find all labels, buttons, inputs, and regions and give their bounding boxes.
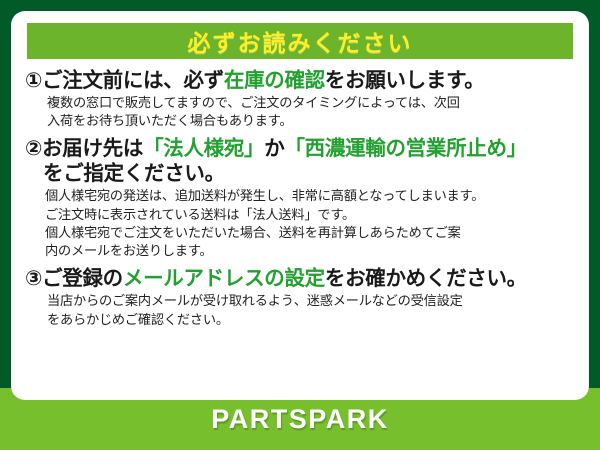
title-banner: 必ずお読みください (27, 23, 573, 59)
item-2-body: 個人様宅宛の発送は、追加送料が発生し、非常に高額となってしまいます。 ご注文時に… (25, 187, 575, 260)
item-2-heading-part-1: お届け先は (42, 137, 143, 160)
item-2-body-line-2: ご注文時に表示されている送料は「法人送料」です。 (45, 206, 575, 224)
item-2-body-line-1: 個人様宅宛の発送は、追加送料が発生し、非常に高額となってしまいます。 (45, 187, 575, 205)
item-3-heading: ③ご登録のメールアドレスの設定をお確かめください。 (25, 266, 575, 291)
item-3-body-line-1: 当店からのご案内メールが受け取れるよう、迷惑メールなどの受信設定 (47, 292, 575, 310)
item-2-heading-part-3: か (264, 137, 284, 160)
item-3-heading-part-3: をお確かめください。 (325, 267, 527, 290)
item-3-body: 当店からのご案内メールが受け取れるよう、迷惑メールなどの受信設定 をあらかじめご… (25, 292, 575, 328)
item-2-heading-line2: をご指定ください。 (25, 161, 575, 186)
item-1-body-line-1: 複数の窓口で販売してますので、ご注文のタイミングによっては、次回 (47, 94, 575, 112)
notice-item-3: ③ご登録のメールアドレスの設定をお確かめください。 当店からのご案内メールが受け… (25, 266, 575, 328)
notice-item-2: ②お届け先は「法人様宛」か「西濃運輸の営業所止め」 をご指定ください。 個人様宅… (25, 136, 575, 260)
item-1-body: 複数の窓口で販売してますので、ご注文のタイミングによっては、次回 入荷をお待ち頂… (25, 94, 575, 130)
item-3-marker: ③ (25, 267, 42, 290)
item-1-heading-part-1: ご注文前には、必ず (42, 69, 224, 92)
item-3-heading-part-1: ご登録の (42, 267, 123, 290)
item-3-heading-highlight: メールアドレスの設定 (123, 267, 325, 290)
notice-frame: PARTSPARK 必ずお読みください ①ご注文前には、必ず在庫の確認をお願いし… (0, 0, 600, 450)
item-2-heading: ②お届け先は「法人様宛」か「西濃運輸の営業所止め」 (25, 136, 575, 161)
item-2-heading-highlight-2: 「西濃運輸の営業所止め」 (284, 137, 526, 160)
notice-title: 必ずお読みください (188, 24, 413, 58)
item-2-marker: ② (25, 137, 42, 160)
notice-card: 必ずお読みください ①ご注文前には、必ず在庫の確認をお願いします。 複数の窓口で… (11, 11, 589, 400)
item-2-heading-highlight-1: 「法人様宛」 (143, 137, 264, 160)
item-1-heading-highlight: 在庫の確認 (224, 69, 325, 92)
item-1-heading: ①ご注文前には、必ず在庫の確認をお願いします。 (25, 68, 575, 93)
brand-name: PARTSPARK (211, 404, 389, 435)
item-1-marker: ① (25, 69, 42, 92)
item-2-body-line-3: 個人様宅宛でご注文をいただいた場合、送料を再計算しあらためてご案 (45, 224, 575, 242)
notice-item-1: ①ご注文前には、必ず在庫の確認をお願いします。 複数の窓口で販売してますので、ご… (25, 68, 575, 130)
item-1-body-line-2: 入荷をお待ち頂いただく場合もあります。 (47, 112, 575, 130)
item-1-heading-part-3: をお願いします。 (325, 69, 485, 92)
item-3-body-line-2: をあらかじめご確認ください。 (47, 311, 575, 329)
item-2-body-line-4: 内のメールをお送りします。 (45, 242, 575, 260)
